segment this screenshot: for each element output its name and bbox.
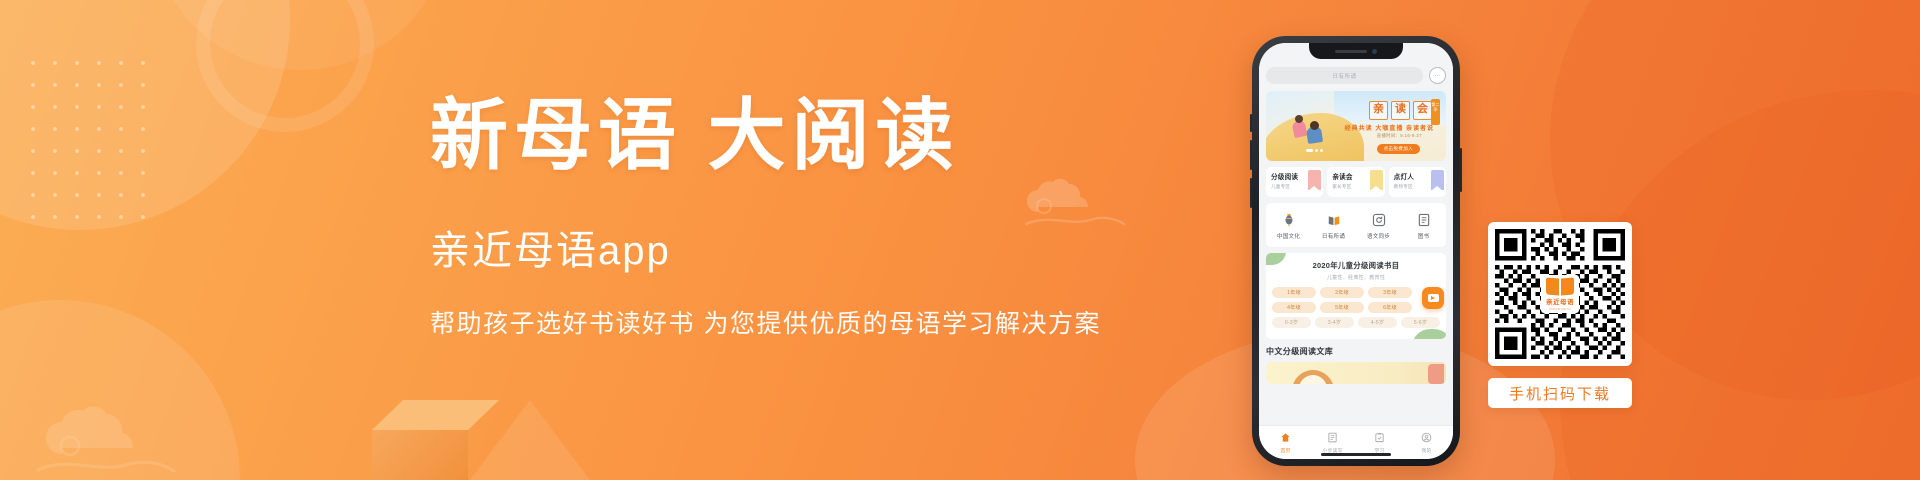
hero-season-tag: 第二季 [1431, 99, 1440, 125]
age-pill[interactable]: 5-6岁 [1401, 317, 1440, 328]
home-icon [1280, 432, 1291, 444]
decorative-ring [196, 0, 374, 132]
quick-entry-books[interactable]: 图书 [1402, 213, 1445, 240]
entry-card-graded-reading[interactable]: 分级阅读 儿童专区 [1266, 167, 1323, 197]
hero-title-char-3: 会 [1413, 101, 1432, 120]
qr-logo-subtext: QINJIN MUYU [1549, 307, 1571, 311]
app-promo-banner: 新母语 大阅读 亲近母语app 帮助孩子选好书读好书 为您提供优质的母语学习解决… [0, 0, 1920, 480]
age-pill[interactable]: 4-5岁 [1358, 317, 1397, 328]
download-block: 亲近母语 QINJIN MUYU 手机扫码下载 [1488, 222, 1632, 408]
hero-title-char-1: 亲 [1369, 101, 1388, 120]
age-pill[interactable]: 3-4岁 [1315, 317, 1354, 328]
bookmark-icon [1308, 170, 1321, 190]
decorative-triangle [470, 400, 590, 480]
hero-title-char-2: 读 [1391, 101, 1410, 120]
hero-banner[interactable]: 亲 读 会 第二季 经典共读 大咖直播 亲读者说 直播时间：9.16-9.27 … [1266, 91, 1446, 161]
banner-copy-block: 新母语 大阅读 亲近母语app 帮助孩子选好书读好书 为您提供优质的母语学习解决… [430, 94, 1250, 340]
hero-subtitle: 经典共读 大咖直播 亲读者说 [1345, 123, 1434, 132]
book-logo-icon [1546, 278, 1574, 295]
library-section-title: 中文分级阅读文库 [1266, 346, 1446, 357]
video-play-icon[interactable] [1422, 287, 1444, 309]
sync-icon [1372, 213, 1386, 228]
quick-entry-label: 中国文化 [1277, 232, 1300, 240]
scan-download-button[interactable]: 手机扫码下载 [1488, 378, 1632, 408]
tab-label: 首页 [1281, 447, 1291, 454]
decorative-circle-top-left [0, 0, 290, 230]
entry-card-lamplighter[interactable]: 点灯人 教师专区 [1389, 167, 1446, 197]
cloud-ornament-bottom-icon [36, 406, 206, 480]
leaf-ornament-icon [1412, 329, 1446, 339]
grade-row-1: 1年级 2年级 3年级 [1272, 287, 1440, 298]
grade-pill[interactable]: 3年级 [1368, 287, 1412, 298]
phone-camera [1372, 49, 1377, 54]
banner-tagline: 帮助孩子选好书读好书 为您提供优质的母语学习解决方案 [430, 304, 1250, 340]
phone-screen: 日有所诵 ··· 亲 读 会 第二季 [1259, 43, 1453, 459]
clipboard-check-icon [1374, 432, 1385, 444]
phone-speaker [1335, 50, 1367, 53]
qr-logo-name: 亲近母语 [1546, 296, 1574, 306]
tab-study[interactable]: 学习 [1356, 432, 1403, 454]
quick-entry-chinese-culture[interactable]: 中国文化 [1267, 213, 1310, 240]
hero-date: 直播时间：9.16-9.27 [1377, 133, 1422, 139]
app-content-scroll[interactable]: 日有所诵 ··· 亲 读 会 第二季 [1259, 43, 1453, 425]
graded-booklist-section: 2020年儿童分级阅读书目 儿童性、经典性、教育性 1年级 2年级 3年级 4年… [1266, 253, 1446, 339]
search-row: 日有所诵 ··· [1266, 67, 1446, 84]
grade-pill[interactable]: 4年级 [1272, 302, 1316, 313]
phone-mute-switch [1250, 114, 1252, 132]
grade-pill[interactable]: 2年级 [1320, 287, 1364, 298]
decorative-cube [372, 428, 468, 480]
user-icon [1421, 432, 1432, 444]
booklist-title: 2020年儿童分级阅读书目 [1272, 260, 1440, 271]
phone-mockup: 日有所诵 ··· 亲 读 会 第二季 [1252, 36, 1460, 466]
grade-row-3: 0-3岁 3-4岁 4-5岁 5-6岁 [1272, 317, 1440, 328]
decorative-circle-bottom-left [0, 300, 240, 480]
qr-center-logo: 亲近母语 QINJIN MUYU [1541, 275, 1579, 313]
grade-pill-rows: 1年级 2年级 3年级 4年级 5年级 6年级 0-3岁 [1272, 287, 1440, 328]
quick-entry-label: 图书 [1418, 232, 1430, 240]
grade-pill[interactable]: 6年级 [1368, 302, 1412, 313]
banner-subline: 亲近母语app [430, 218, 1250, 276]
phone-notch [1309, 43, 1403, 59]
library-page-edge [1428, 364, 1444, 384]
library-banner[interactable] [1266, 362, 1446, 384]
hero-child-2-head [1310, 121, 1319, 130]
tab-profile[interactable]: 我的 [1403, 432, 1450, 454]
bookmark-icon [1370, 170, 1383, 190]
quick-entry-label: 日有所诵 [1322, 232, 1345, 240]
tab-home[interactable]: 首页 [1262, 432, 1309, 454]
grade-pill[interactable]: 5年级 [1320, 302, 1364, 313]
search-input[interactable]: 日有所诵 [1266, 67, 1423, 84]
hero-carousel-dots[interactable] [1306, 149, 1323, 152]
quick-entry-row: 中国文化 日有所诵 语文同步 [1266, 203, 1446, 247]
phone-power-button [1460, 148, 1462, 192]
message-icon[interactable]: ··· [1429, 67, 1446, 84]
list-icon [1327, 432, 1338, 444]
phone-volume-up-button [1250, 140, 1252, 170]
qr-code-image: 亲近母语 QINJIN MUYU [1495, 229, 1625, 359]
booklist-subtitle: 儿童性、经典性、教育性 [1272, 274, 1440, 281]
hero-child-1-head [1295, 115, 1303, 123]
grade-pill[interactable]: 1年级 [1272, 287, 1316, 298]
home-indicator [1321, 453, 1391, 456]
quick-entry-label: 语文同步 [1367, 232, 1390, 240]
hero-join-button[interactable]: 点击免费加入 [1377, 144, 1420, 154]
phone-volume-down-button [1250, 178, 1252, 208]
lantern-icon [1282, 213, 1296, 228]
bookmark-icon [1431, 170, 1444, 190]
open-book-icon [1327, 213, 1341, 228]
decorative-circle-top-left-2 [150, 0, 450, 70]
decorative-dot-grid [22, 52, 162, 222]
grade-row-2: 4年级 5年级 6年级 [1272, 302, 1440, 313]
banner-headline: 新母语 大阅读 [430, 94, 1250, 178]
tab-label: 我的 [1422, 447, 1432, 454]
quick-entry-textbook-sync[interactable]: 语文同步 [1357, 213, 1400, 240]
entry-cards: 分级阅读 儿童专区 亲读会 家长专区 点灯人 教师专区 [1266, 167, 1446, 197]
age-pill[interactable]: 0-3岁 [1272, 317, 1311, 328]
quick-entry-daily-recitation[interactable]: 日有所诵 [1312, 213, 1355, 240]
hero-title: 亲 读 会 [1369, 101, 1432, 120]
tab-reading-writing[interactable]: 小步读写 [1309, 432, 1356, 454]
qr-code-card[interactable]: 亲近母语 QINJIN MUYU [1488, 222, 1632, 366]
book-icon [1417, 213, 1431, 228]
entry-card-reading-club[interactable]: 亲读会 家长专区 [1327, 167, 1384, 197]
